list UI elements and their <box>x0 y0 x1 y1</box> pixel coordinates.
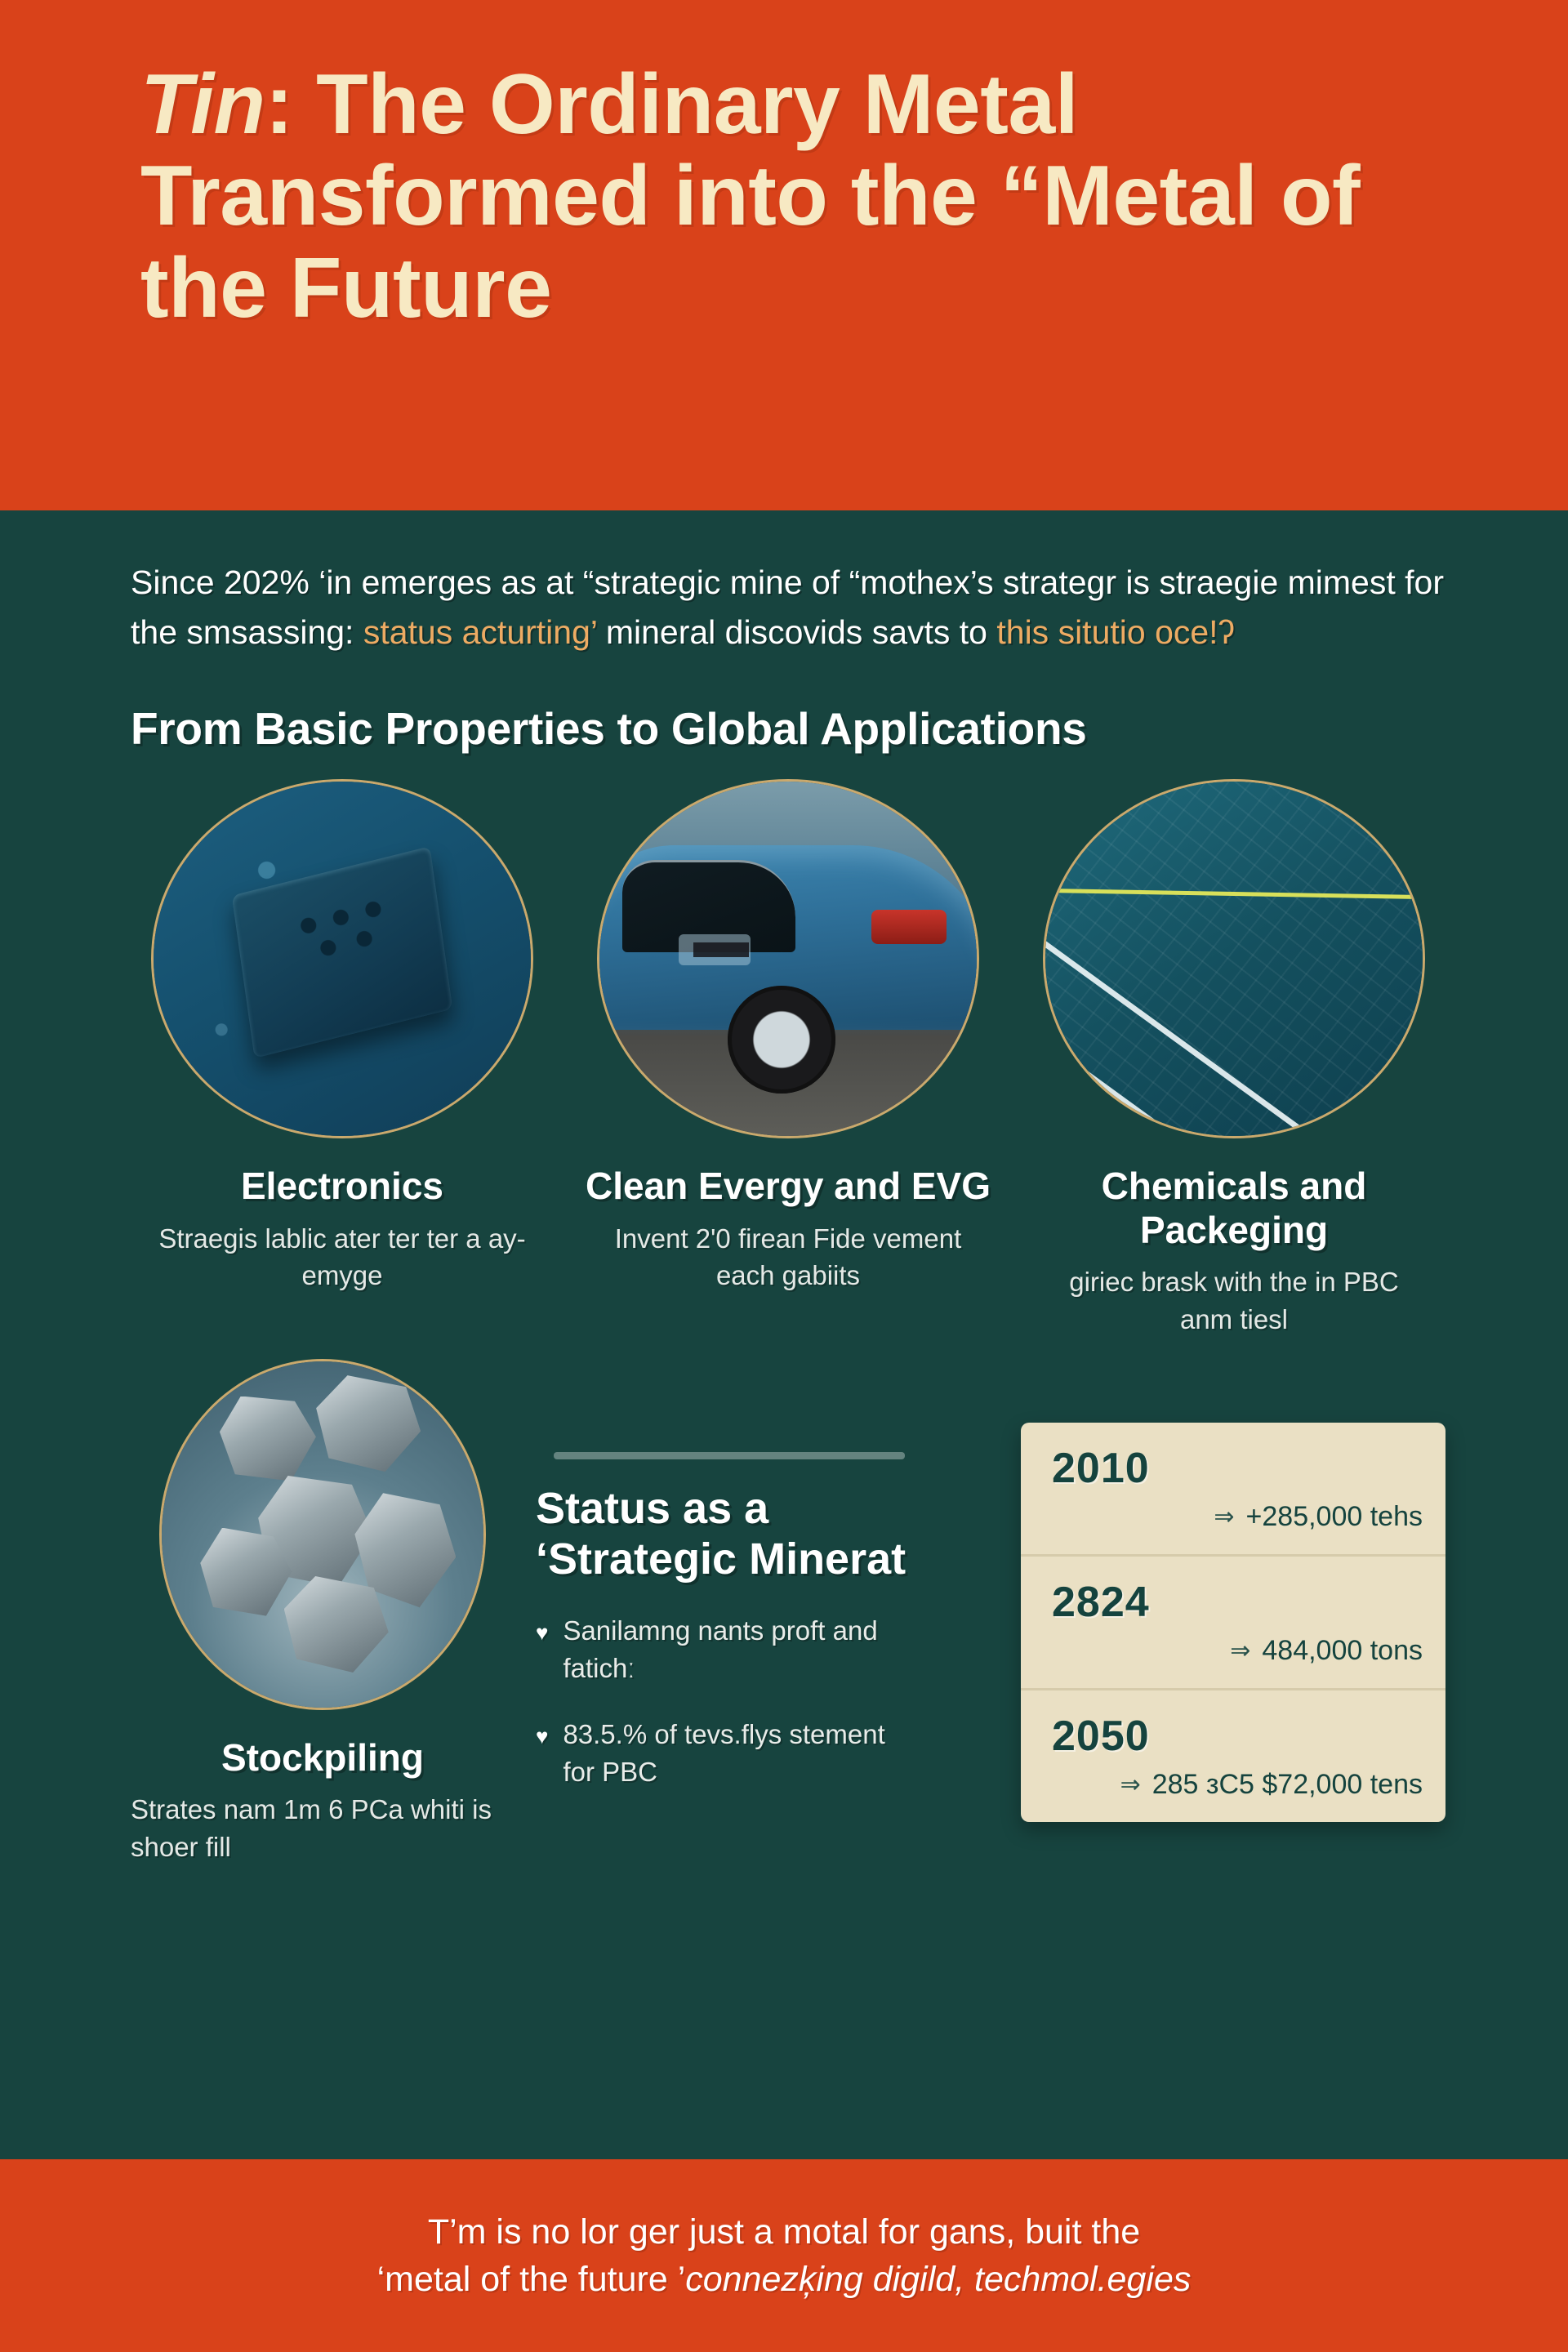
stockpiling-title: Stockpiling <box>221 1736 424 1780</box>
list-item: ♥ Sanilamng nants proft and fatichː <box>536 1612 920 1686</box>
car-window-shape <box>622 860 796 952</box>
tin-ore-icon <box>162 1361 483 1708</box>
footer-line-2: ‘metal of the future ’connezķing digild,… <box>377 2256 1192 2303</box>
application-title: Electronics <box>241 1165 443 1208</box>
intro-accent1: status acturting’ <box>363 613 597 651</box>
intro-accent2: this situtio oce!ʔ <box>996 613 1235 651</box>
timeline-value-wrap: ⇒ +285,000 tehs <box>1052 1501 1423 1533</box>
bullet-text: Sanilamng nants proft and fatichː <box>563 1612 920 1686</box>
status-block: Status as a ‘Strategic Minerat ♥ Sanilam… <box>536 1359 920 1820</box>
timeline-year: 2010 <box>1052 1444 1423 1493</box>
footer-line2-italic: connezķing digild, techmol.egies <box>685 2260 1191 2299</box>
chemicals-image-circle <box>1043 779 1425 1138</box>
arrow-right-icon: ⇒ <box>1120 1771 1141 1799</box>
timeline-block: 2010 ⇒ +285,000 tehs 2824 ⇒ 484,000 tons <box>941 1359 1445 1822</box>
timeline-value: 285 зС5 $72,000 tens <box>1152 1769 1423 1801</box>
application-card-electronics: Electronics Straegis lablic ater ter ter… <box>131 779 554 1338</box>
stockpiling-image-circle <box>159 1359 486 1710</box>
electronics-image-circle <box>151 779 533 1138</box>
electric-car-icon <box>599 782 977 1136</box>
application-title: Chemicals and Packeging <box>1022 1165 1445 1252</box>
bullet-text: 83.5.% of tevs.flys stement for PBC <box>563 1716 920 1790</box>
timeline-value-wrap: ⇒ 484,000 tons <box>1052 1635 1423 1667</box>
poster-header: Tin: The Ordinary Metal Transformed into… <box>0 0 1568 510</box>
car-wheel-shape <box>728 986 835 1094</box>
section-heading: From Basic Properties to Global Applicat… <box>131 702 1445 755</box>
page-title: Tin: The Ordinary Metal Transformed into… <box>140 59 1445 334</box>
timeline-row: 2050 ⇒ 285 зС5 $72,000 tens <box>1021 1690 1445 1822</box>
arrow-right-icon: ⇒ <box>1214 1503 1234 1531</box>
footer-line2-plain: ‘metal of the future ’ <box>377 2260 686 2299</box>
timeline-year: 2824 <box>1052 1578 1423 1627</box>
poster-footer: T’m is no lor ger just a motal for gans,… <box>0 2159 1568 2352</box>
heart-bullet-icon: ♥ <box>536 1726 548 1790</box>
application-card-clean-energy: Clean Evergy and EVG Invent 2'0 firean F… <box>577 779 1000 1338</box>
arrow-right-icon: ⇒ <box>1230 1637 1250 1665</box>
timeline-row: 2824 ⇒ 484,000 tons <box>1021 1557 1445 1690</box>
timeline-value: +285,000 tehs <box>1246 1501 1423 1533</box>
timeline-row: 2010 ⇒ +285,000 tehs <box>1021 1423 1445 1557</box>
application-subtext: Invent 2'0 firean Fide vement each gabii… <box>596 1220 980 1294</box>
title-rest: : The Ordinary Metal Transformed into th… <box>140 57 1360 336</box>
stockpiling-block: Stockpiling Strates nam 1m 6 PCa whiti i… <box>131 1359 514 1865</box>
ore-rock-shape <box>284 1576 389 1673</box>
footer-line-1: T’m is no lor ger just a motal for gans,… <box>428 2208 1140 2256</box>
status-bullet-list: ♥ Sanilamng nants proft and fatichː ♥ 83… <box>536 1612 920 1790</box>
application-card-chemicals: Chemicals and Packeging giriec brask wit… <box>1022 779 1445 1338</box>
stockpiling-subtext: Strates nam 1m 6 PCa whiti is shoer fill <box>131 1791 514 1865</box>
intro-paragraph: Since 202% ‘in emerges as at “strategic … <box>131 558 1445 657</box>
timeline-card: 2010 ⇒ +285,000 tehs 2824 ⇒ 484,000 tons <box>1021 1423 1445 1822</box>
application-title: Clean Evergy and EVG <box>586 1165 991 1208</box>
microchip-icon <box>154 782 531 1136</box>
lower-section: Stockpiling Strates nam 1m 6 PCa whiti i… <box>131 1359 1445 1865</box>
infographic-poster: Tin: The Ordinary Metal Transformed into… <box>0 0 1568 2352</box>
intro-part2: mineral discovids savts to <box>596 613 996 651</box>
poster-body: Since 202% ‘in emerges as at “strategic … <box>0 510 1568 2159</box>
title-emphasis: Tin <box>140 57 265 152</box>
clean-energy-image-circle <box>597 779 979 1138</box>
application-subtext: Straegis lablic ater ter ter a ay-emyge <box>150 1220 534 1294</box>
application-subtext: giriec brask with the in PBC anm tiesl <box>1042 1263 1426 1338</box>
timeline-value-wrap: ⇒ 285 зС5 $72,000 tens <box>1052 1769 1423 1801</box>
ore-rock-shape <box>316 1375 421 1472</box>
section-divider <box>554 1452 905 1459</box>
heart-bullet-icon: ♥ <box>536 1622 548 1686</box>
status-title: Status as a ‘Strategic Minerat <box>536 1484 920 1584</box>
ore-rock-shape <box>220 1396 316 1481</box>
timeline-year: 2050 <box>1052 1712 1423 1761</box>
solar-panel-icon <box>1045 782 1423 1136</box>
list-item: ♥ 83.5.% of tevs.flys stement for PBC <box>536 1716 920 1790</box>
timeline-value: 484,000 tons <box>1262 1635 1423 1667</box>
application-card-row: Electronics Straegis lablic ater ter ter… <box>131 779 1445 1338</box>
